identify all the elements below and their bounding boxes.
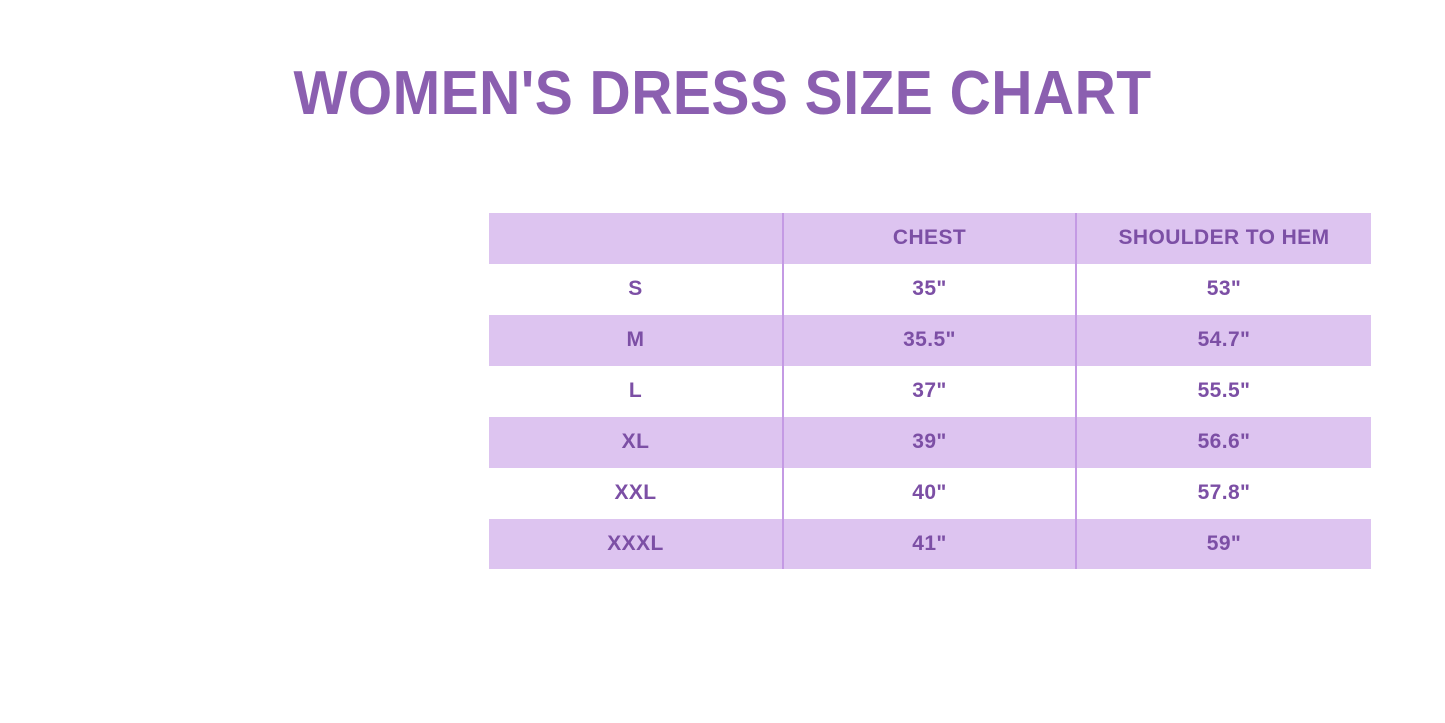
cell-size: M: [489, 315, 783, 366]
cell-chest: 35.5": [783, 315, 1076, 366]
table-header-row: CHEST SHOULDER TO HEM: [489, 213, 1371, 264]
cell-chest: 37": [783, 366, 1076, 417]
cell-shoulder-to-hem: 57.8": [1076, 468, 1371, 519]
cell-shoulder-to-hem: 59": [1076, 519, 1371, 570]
cell-shoulder-to-hem: 56.6": [1076, 417, 1371, 468]
table-row: L 37" 55.5": [489, 366, 1371, 417]
cell-chest: 40": [783, 468, 1076, 519]
size-chart-table: CHEST SHOULDER TO HEM S 35" 53" M 35.5" …: [489, 213, 1371, 569]
cell-size: XL: [489, 417, 783, 468]
table-row: M 35.5" 54.7": [489, 315, 1371, 366]
cell-shoulder-to-hem: 54.7": [1076, 315, 1371, 366]
column-header-chest: CHEST: [783, 213, 1076, 264]
cell-size: XXL: [489, 468, 783, 519]
size-chart-table-container: CHEST SHOULDER TO HEM S 35" 53" M 35.5" …: [489, 213, 1371, 567]
column-header-size: [489, 213, 783, 264]
column-header-shoulder-to-hem: SHOULDER TO HEM: [1076, 213, 1371, 264]
cell-shoulder-to-hem: 53": [1076, 264, 1371, 315]
cell-size: L: [489, 366, 783, 417]
table-row: XXL 40" 57.8": [489, 468, 1371, 519]
cell-shoulder-to-hem: 55.5": [1076, 366, 1371, 417]
cell-size: S: [489, 264, 783, 315]
cell-chest: 39": [783, 417, 1076, 468]
table-row: XXXL 41" 59": [489, 519, 1371, 570]
cell-size: XXXL: [489, 519, 783, 570]
cell-chest: 35": [783, 264, 1076, 315]
page-title: WOMEN'S DRESS SIZE CHART: [58, 58, 1387, 130]
table-row: S 35" 53": [489, 264, 1371, 315]
cell-chest: 41": [783, 519, 1076, 570]
size-chart-page: WOMEN'S DRESS SIZE CHART CHEST SHOULDER …: [0, 0, 1445, 723]
table-row: XL 39" 56.6": [489, 417, 1371, 468]
